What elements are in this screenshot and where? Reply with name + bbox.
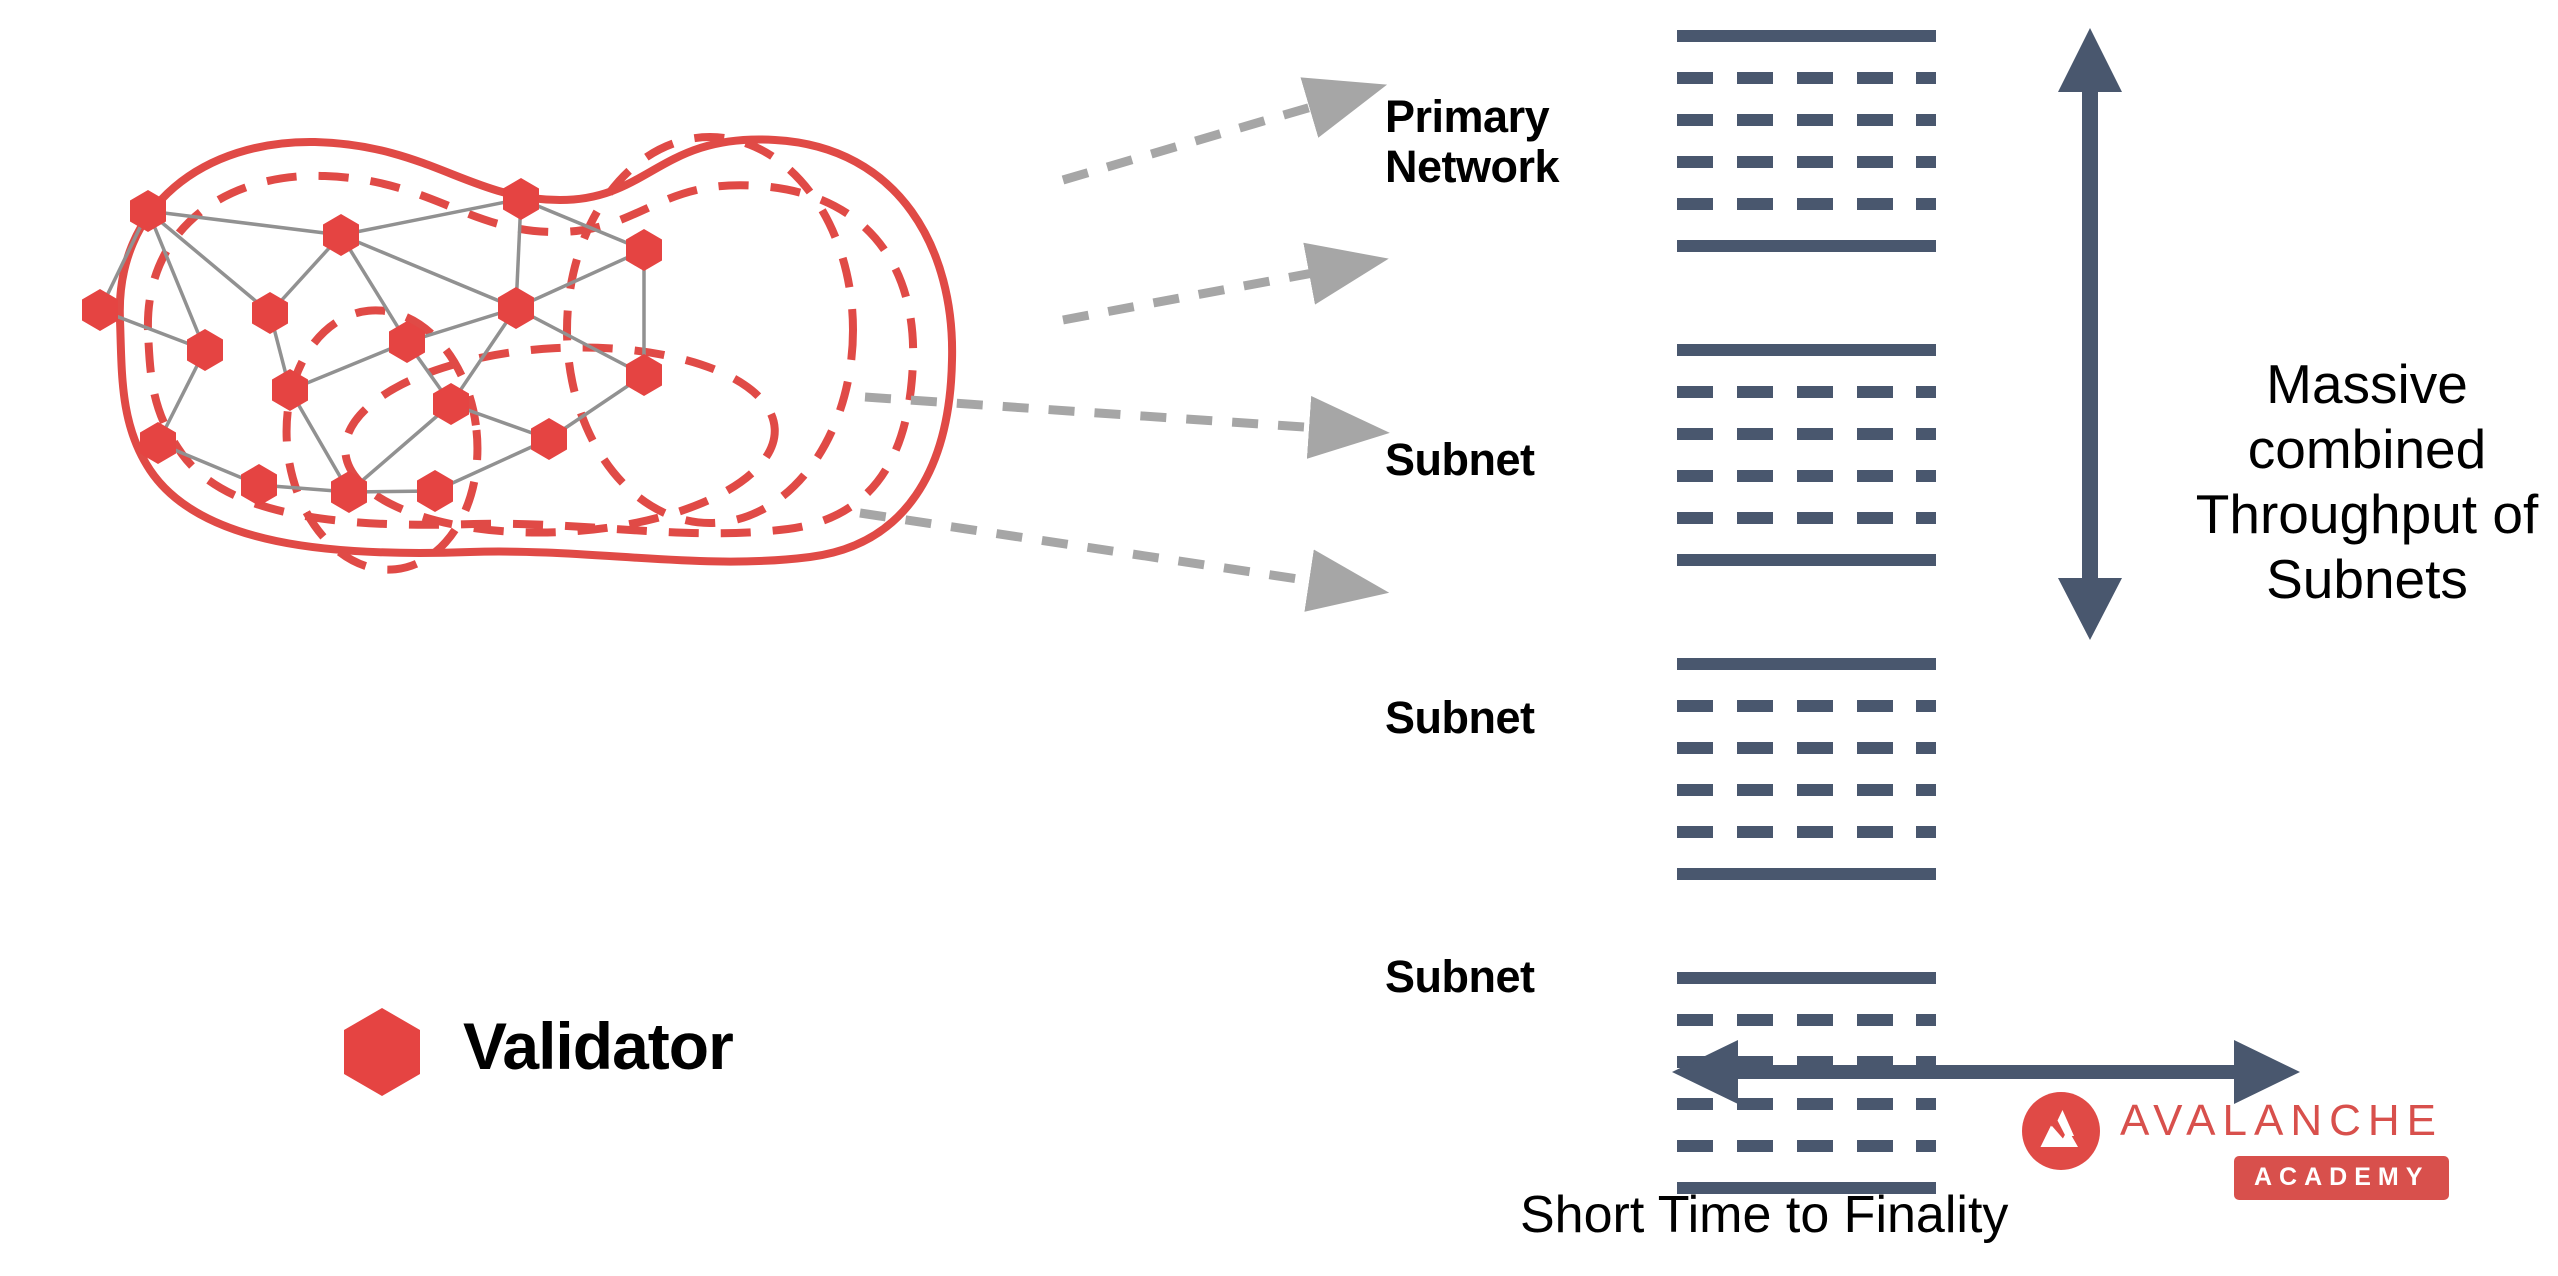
chain-dash-block (1677, 198, 1713, 210)
chain-dash-block (1797, 198, 1833, 210)
chain-dash-block (1916, 512, 1936, 524)
chain-dash-block (1677, 700, 1713, 712)
chain-dash-block (1857, 784, 1893, 796)
chain-dash-block (1916, 742, 1936, 754)
chain-dash-block (1916, 826, 1936, 838)
chain-dash-block (1857, 428, 1893, 440)
chain-dash-block (1857, 72, 1893, 84)
avalanche-academy-logo: AVALANCHE ACADEMY (2022, 1088, 2542, 1208)
chain-dash-block (1857, 1014, 1893, 1026)
chain-dash-block (1677, 1140, 1713, 1152)
chain-dash-block (1677, 784, 1713, 796)
chain-dash-block (1916, 156, 1936, 168)
chain-dash-block (1857, 470, 1893, 482)
chain-dash-block (1857, 198, 1893, 210)
chain-dash-block (1737, 1098, 1773, 1110)
chain-dash-block (1916, 72, 1936, 84)
chain-dash-block (1916, 1140, 1936, 1152)
chain-dash-block (1677, 1098, 1713, 1110)
chain-dash-block (1797, 826, 1833, 838)
chain-dash-block (1797, 784, 1833, 796)
chain-dash-block (1857, 700, 1893, 712)
chain-dash-block (1916, 784, 1936, 796)
chain-solid-rule (1677, 554, 1936, 566)
chain-dash-block (1857, 386, 1893, 398)
chain-dash-block (1737, 742, 1773, 754)
chain-dash-block (1797, 470, 1833, 482)
chain-dash-block (1797, 386, 1833, 398)
chain-dash-block (1737, 1140, 1773, 1152)
chain-dash-block (1737, 156, 1773, 168)
avalanche-wordmark: AVALANCHE (2120, 1096, 2443, 1146)
chain-dash-block (1797, 1098, 1833, 1110)
chain-dash-block (1677, 386, 1713, 398)
chain-dash-block (1677, 114, 1713, 126)
chain-dash-block (1916, 114, 1936, 126)
chain-dash-block (1916, 470, 1936, 482)
chain-dash-block (1797, 700, 1833, 712)
chain-dash-block (1677, 428, 1713, 440)
avalanche-a-mark-icon (2022, 1092, 2100, 1170)
chain-dash-block (1857, 742, 1893, 754)
chain-dash-block (1797, 156, 1833, 168)
chain-dash-block (1737, 470, 1773, 482)
chain-dash-block (1857, 826, 1893, 838)
chain-dash-block (1677, 742, 1713, 754)
chain-dash-block (1677, 512, 1713, 524)
chain-solid-rule (1677, 240, 1936, 252)
throughput-annotation: Massive combined Throughput of Subnets (2192, 352, 2542, 612)
chain-solid-rule (1677, 868, 1936, 880)
chain-dash-block (1916, 700, 1936, 712)
chain-dash-block (1737, 114, 1773, 126)
chain-dash-block (1916, 428, 1936, 440)
chain-dash-block (1737, 428, 1773, 440)
chain-dash-block (1916, 1098, 1936, 1110)
chain-dash-block (1797, 1140, 1833, 1152)
chain-dash-block (1737, 198, 1773, 210)
finality-annotation: Short Time to Finality (1520, 1185, 2008, 1245)
chain-dash-block (1797, 72, 1833, 84)
chain-dash-block (1677, 470, 1713, 482)
chain-solid-rule (1677, 658, 1936, 670)
chain-solid-rule (1677, 344, 1936, 356)
academy-badge: ACADEMY (2234, 1156, 2449, 1200)
academy-badge-label: ACADEMY (2254, 1163, 2429, 1191)
chain-dash-block (1797, 742, 1833, 754)
chain-dash-block (1797, 428, 1833, 440)
diagram-canvas: Primary Network Subnet Subnet Subnet Val… (0, 0, 2558, 1276)
chain-dash-block (1677, 156, 1713, 168)
chain-dash-block (1797, 512, 1833, 524)
chain-dash-block (1916, 1014, 1936, 1026)
chain-dash-block (1737, 1014, 1773, 1026)
chain-solid-rule (1677, 30, 1936, 42)
chain-dash-block (1857, 1140, 1893, 1152)
chain-dash-block (1737, 784, 1773, 796)
chain-dash-block (1916, 386, 1936, 398)
chain-dash-block (1677, 1014, 1713, 1026)
chain-dash-block (1737, 386, 1773, 398)
chain-dash-block (1677, 826, 1713, 838)
throughput-arrow (2058, 28, 2122, 640)
chain-dash-block (1857, 114, 1893, 126)
chain-dash-block (1797, 114, 1833, 126)
blockchain-stack-layer (0, 0, 2558, 1276)
chain-dash-block (1916, 198, 1936, 210)
chain-dash-block (1737, 700, 1773, 712)
chain-dash-block (1737, 826, 1773, 838)
chain-dash-block (1737, 512, 1773, 524)
chain-dash-block (1797, 1014, 1833, 1026)
chain-dash-block (1857, 512, 1893, 524)
chain-dash-block (1677, 72, 1713, 84)
blockchain-groups (1677, 30, 1936, 1194)
chain-dash-block (1857, 156, 1893, 168)
chain-dash-block (1857, 1098, 1893, 1110)
chain-dash-block (1737, 72, 1773, 84)
chain-solid-rule (1677, 972, 1936, 984)
